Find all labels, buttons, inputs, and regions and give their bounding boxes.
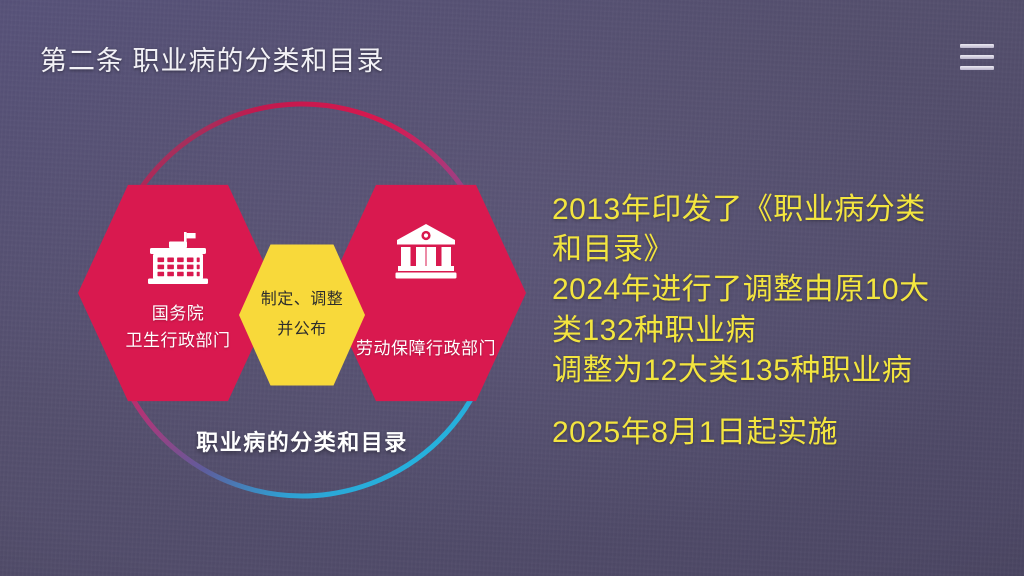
content-line-1: 2013年印发了《职业病分类 — [552, 190, 1002, 230]
diagram-caption: 职业病的分类和目录 — [78, 425, 526, 457]
classical-bank-building-icon — [395, 223, 457, 284]
content-line-3: 2024年进行了调整由原10大 — [552, 270, 1002, 310]
content-spacer — [552, 391, 1002, 413]
presentation-slide: 第二条 职业病的分类和目录 — [0, 0, 1024, 576]
page-title: 第二条 职业病的分类和目录 — [40, 39, 385, 78]
hex-labor-security-line2: 劳动保障行政部门 — [356, 336, 496, 362]
process-diagram: 国务院 卫生行政部门 — [78, 88, 526, 512]
menu-line-3 — [960, 66, 994, 70]
content-final-line: 2025年8月1日起实施 — [552, 413, 1002, 453]
content-line-5: 调整为12大类135种职业病 — [552, 351, 1002, 391]
hamburger-menu-icon[interactable] — [960, 44, 994, 70]
content-line-4: 类132种职业病 — [552, 311, 1002, 351]
content-line-2: 和目录》 — [552, 230, 1002, 270]
hex-state-council[interactable]: 国务院 卫生行政部门 — [78, 178, 278, 408]
content-text-block: 2013年印发了《职业病分类 和目录》 2024年进行了调整由原10大 类132… — [552, 190, 1002, 453]
hex-labor-security[interactable]: 劳动保障行政部门 — [326, 178, 526, 408]
hex-state-council-line1: 国务院 — [126, 301, 231, 327]
government-building-icon — [146, 232, 210, 289]
menu-line-1 — [960, 44, 994, 48]
hex-state-council-line2: 卫生行政部门 — [126, 328, 231, 354]
hex-center-action-line1: 制定、调整 — [261, 285, 344, 315]
menu-line-2 — [960, 55, 994, 59]
hex-center-action-line2: 并公布 — [277, 315, 327, 345]
